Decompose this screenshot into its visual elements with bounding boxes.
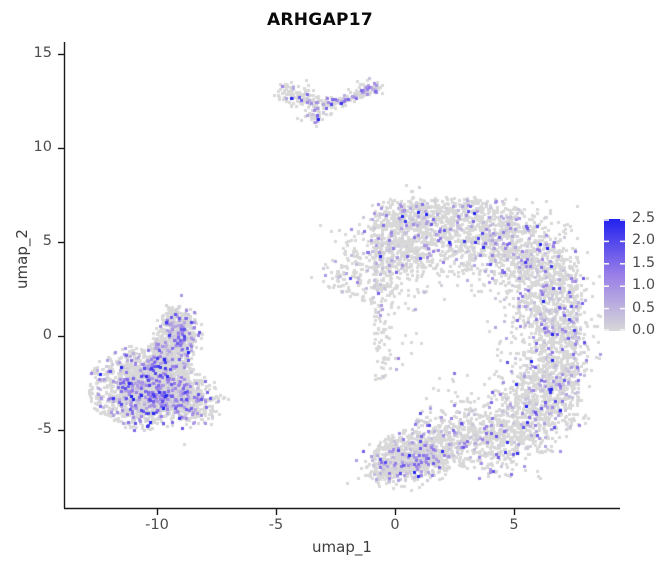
x-tick-label: 5	[484, 517, 544, 533]
colorbar-tick-label: 2.0	[632, 232, 655, 248]
x-axis-title: umap_1	[64, 538, 620, 556]
y-tick-label: 15	[0, 45, 52, 61]
umap-feature-plot: ARHGAP17 -5051015 -10-505 umap_1 umap_2 …	[0, 0, 672, 576]
colorbar-tick-label: 0.0	[632, 322, 655, 338]
x-tick-label: -5	[246, 517, 306, 533]
colorbar-tick-label: 2.5	[632, 210, 655, 226]
scatter-points-canvas	[0, 0, 672, 576]
colorbar-tick-label: 0.5	[632, 300, 655, 316]
colorbar-tick-marks	[604, 219, 630, 331]
colorbar-tick-label: 1.0	[632, 277, 655, 293]
y-axis-title: umap_2	[13, 199, 31, 319]
x-tick-label: -10	[127, 517, 187, 533]
colorbar-tick-label: 1.5	[632, 255, 655, 271]
y-tick-label: 10	[0, 139, 52, 155]
y-tick-label: 0	[0, 327, 52, 343]
x-tick-label: 0	[365, 517, 425, 533]
y-tick-label: -5	[0, 421, 52, 437]
